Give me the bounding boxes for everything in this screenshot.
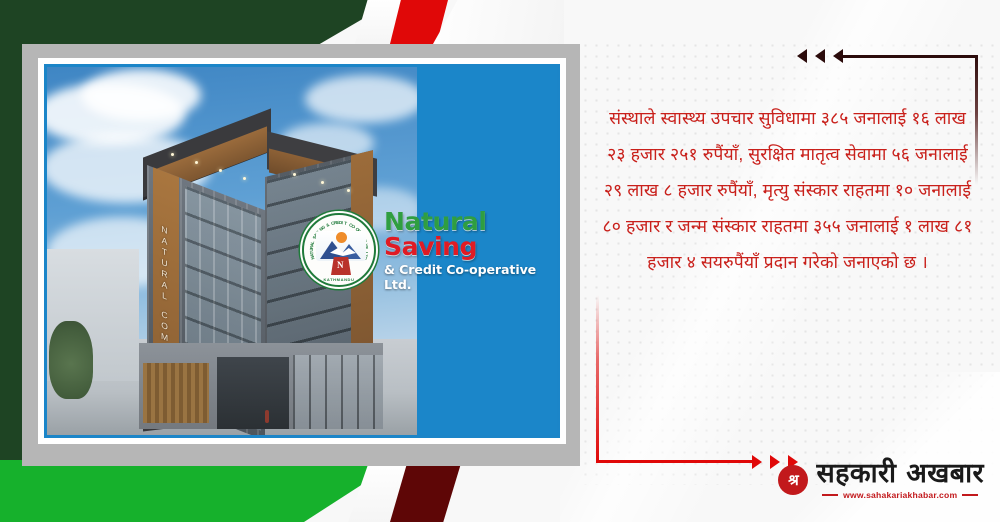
publisher-brand[interactable]: श्र सहकारी अखबार www.sahakariakhabar.com <box>778 454 984 506</box>
photo-frame-card: N A T U R A L C O M P L E X <box>22 44 580 466</box>
natural-saving-logo: NATURAL SAVING & CREDIT CO-OPERATIVE LTD… <box>302 207 557 293</box>
emblem-year: 2065 <box>304 269 374 275</box>
emblem-ring-char: T <box>344 221 348 226</box>
brand-title: सहकारी अखबार <box>816 460 984 487</box>
brick-screen-wall <box>143 363 209 423</box>
building-entrance <box>217 357 289 429</box>
building-podium <box>139 343 383 429</box>
lamp-icon <box>195 161 198 164</box>
ground-floor-shopfronts <box>293 355 383 429</box>
article-body-text: संस्थाले स्वास्थ्य उपचार सुविधामा ३८५ जन… <box>600 100 975 280</box>
chevron-left-icon <box>815 49 825 63</box>
bottom-connector-line-vertical <box>596 295 599 463</box>
bottom-decorative-band <box>0 460 470 522</box>
bottom-band-green-shape <box>0 460 400 522</box>
logo-name-part2: Saving <box>384 232 477 261</box>
logo-name-line: Natural Saving <box>384 209 557 260</box>
cloud-icon <box>81 69 201 121</box>
bottom-connector-line <box>596 460 758 463</box>
poster-canvas: N A T U R A L C O M P L E X <box>0 0 1000 522</box>
rule-right <box>962 494 978 496</box>
logo-tagline: & Credit Co-operative Ltd. <box>384 262 557 292</box>
emblem-ring-char: & <box>325 222 330 228</box>
brand-website-url[interactable]: www.sahakariakhabar.com <box>816 490 984 500</box>
lamp-icon <box>293 173 296 176</box>
lamp-icon <box>243 177 246 180</box>
chevron-right-icon <box>752 455 762 469</box>
brand-text-block: सहकारी अखबार www.sahakariakhabar.com <box>816 460 984 500</box>
logo-wordmark: Natural Saving & Credit Co-operative Ltd… <box>384 209 557 292</box>
tree-icon <box>49 321 93 399</box>
emblem-city: KATHMANDU <box>304 277 374 282</box>
person-figure <box>265 410 269 423</box>
top-connector-line <box>842 55 978 58</box>
lamp-icon <box>171 153 174 156</box>
top-connector-line-vertical <box>975 55 978 185</box>
brand-url-text: www.sahakariakhabar.com <box>843 490 957 500</box>
cooperative-emblem-icon: NATURAL SAVING & CREDIT CO-OPERATIVE LTD… <box>302 213 376 287</box>
chevron-left-icon <box>833 49 843 63</box>
lamp-icon <box>219 169 222 172</box>
left-green-strip <box>0 58 22 462</box>
chevron-left-icon <box>797 49 807 63</box>
photo-frame-blue-edge: N A T U R A L C O M P L E X <box>44 64 560 438</box>
brand-mark-glyph: श्र <box>788 473 799 488</box>
brand-logo-icon: श्र <box>778 465 808 495</box>
lamp-icon <box>321 181 324 184</box>
rule-left <box>822 494 838 496</box>
lamp-icon <box>347 189 350 192</box>
emblem-scene <box>316 231 366 261</box>
building-photo: N A T U R A L C O M P L E X <box>47 67 557 435</box>
